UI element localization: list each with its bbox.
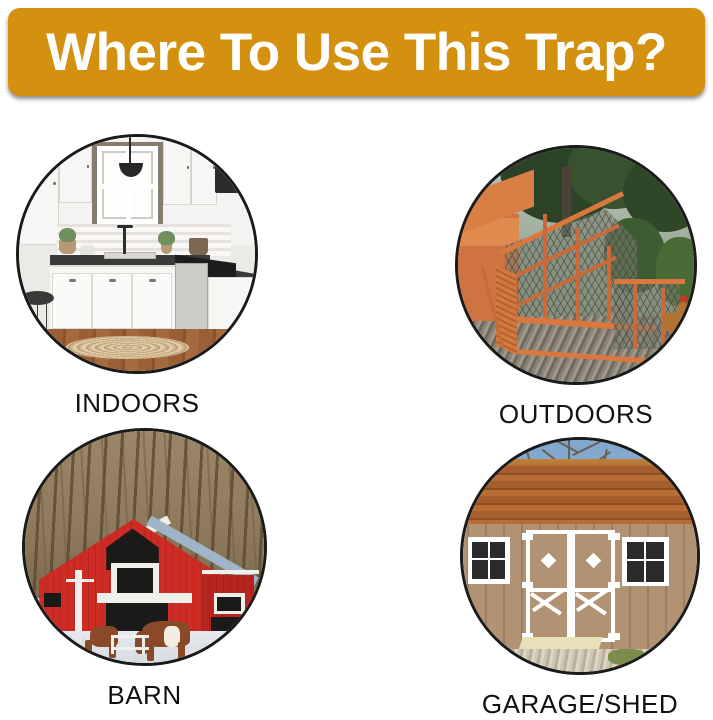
scene-chicken-coop xyxy=(458,148,694,382)
image-garage-shed xyxy=(460,437,700,675)
image-outdoors xyxy=(455,145,697,385)
cell-garage-shed: GARAGE/SHED xyxy=(460,437,700,720)
cell-barn: BARN xyxy=(22,428,267,711)
caption-outdoors: OUTDOORS xyxy=(455,399,697,430)
scene-shed xyxy=(463,440,697,672)
image-indoors xyxy=(16,134,258,374)
scene-kitchen xyxy=(19,137,255,371)
caption-garage-shed: GARAGE/SHED xyxy=(460,689,700,720)
scene-red-barn xyxy=(25,431,264,663)
cell-outdoors: OUTDOORS xyxy=(455,145,697,430)
page-header-banner: Where To Use This Trap? xyxy=(8,8,705,96)
image-barn xyxy=(22,428,267,666)
caption-barn: BARN xyxy=(22,680,267,711)
caption-indoors: INDOORS xyxy=(16,388,258,419)
cell-indoors: INDOORS xyxy=(16,134,258,419)
page-title: Where To Use This Trap? xyxy=(46,26,667,79)
